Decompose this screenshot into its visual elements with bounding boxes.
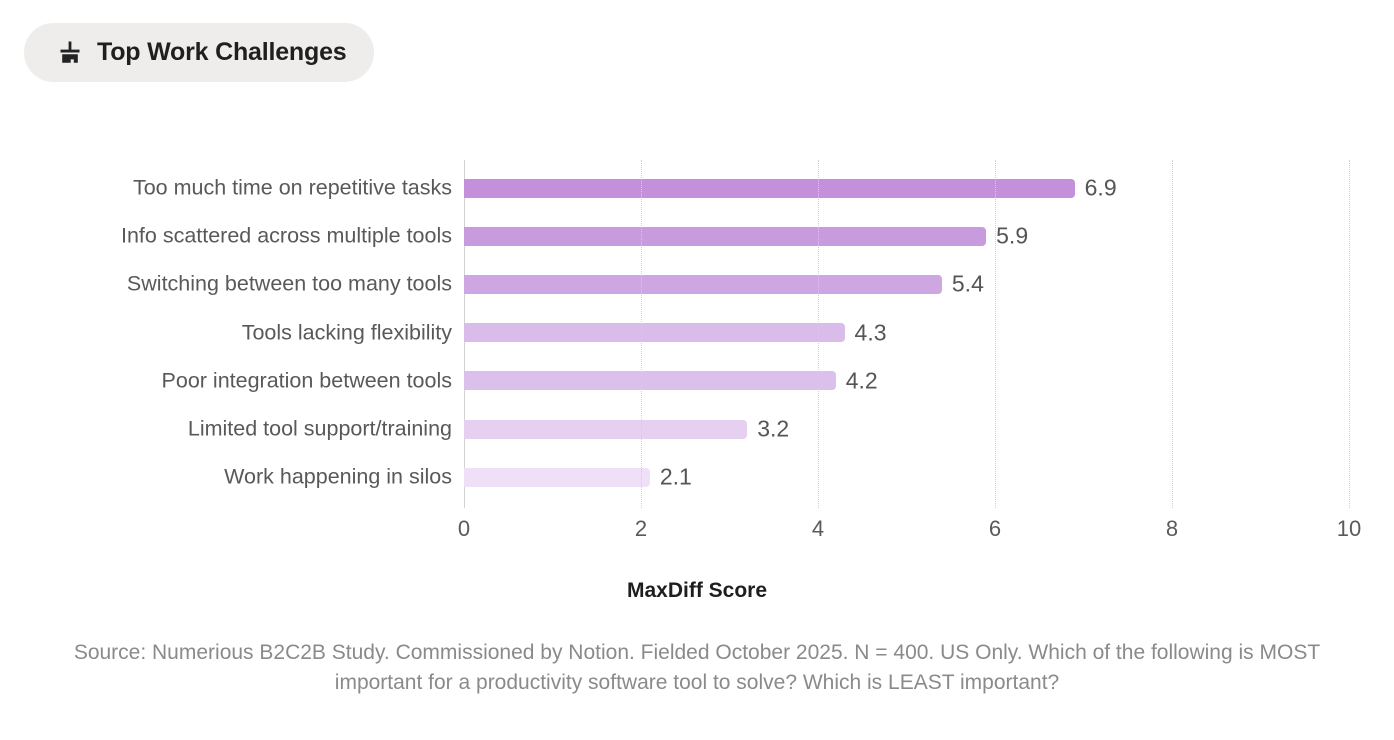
bar-row: 4.2 [464,371,1349,390]
category-label: Info scattered across multiple tools [22,224,452,249]
bar[interactable] [464,227,986,246]
source-note: Source: Numerious B2C2B Study. Commissio… [37,638,1357,698]
x-tick-label: 4 [812,516,824,542]
bar[interactable] [464,179,1075,198]
bar-row: 5.4 [464,275,1349,294]
bar-value-label: 6.9 [1085,175,1117,202]
bar-value-label: 3.2 [757,416,789,443]
bar-chart: 6.95.95.44.34.23.22.1 Too much time on r… [0,0,1394,740]
gridline [818,160,819,508]
x-axis-title: MaxDiff Score [0,579,1394,603]
x-tick-label: 6 [989,516,1001,542]
bar-value-label: 5.9 [996,223,1028,250]
x-tick-label: 10 [1337,516,1361,542]
bar-value-label: 4.2 [846,367,878,394]
bar-row: 2.1 [464,468,1349,487]
bar-row: 5.9 [464,227,1349,246]
category-label: Limited tool support/training [22,417,452,442]
bar-row: 3.2 [464,420,1349,439]
gridline [641,160,642,508]
category-label: Switching between too many tools [22,272,452,297]
category-label: Poor integration between tools [22,368,452,393]
plot-area: 6.95.95.44.34.23.22.1 [464,160,1349,508]
bar-value-label: 2.1 [660,464,692,491]
category-label: Too much time on repetitive tasks [22,176,452,201]
bar[interactable] [464,468,650,487]
gridline [1172,160,1173,508]
x-tick-label: 2 [635,516,647,542]
x-tick-label: 0 [458,516,470,542]
category-label: Work happening in silos [22,465,452,490]
chart-page: Top Work Challenges 6.95.95.44.34.23.22.… [0,0,1394,740]
bar-value-label: 4.3 [855,319,887,346]
category-label: Tools lacking flexibility [22,320,452,345]
bar-value-label: 5.4 [952,271,984,298]
bar-row: 6.9 [464,179,1349,198]
bar[interactable] [464,371,836,390]
gridline [995,160,996,508]
bar[interactable] [464,323,845,342]
gridline [1349,160,1350,508]
bar[interactable] [464,275,942,294]
bar[interactable] [464,420,747,439]
x-tick-label: 8 [1166,516,1178,542]
bar-row: 4.3 [464,323,1349,342]
